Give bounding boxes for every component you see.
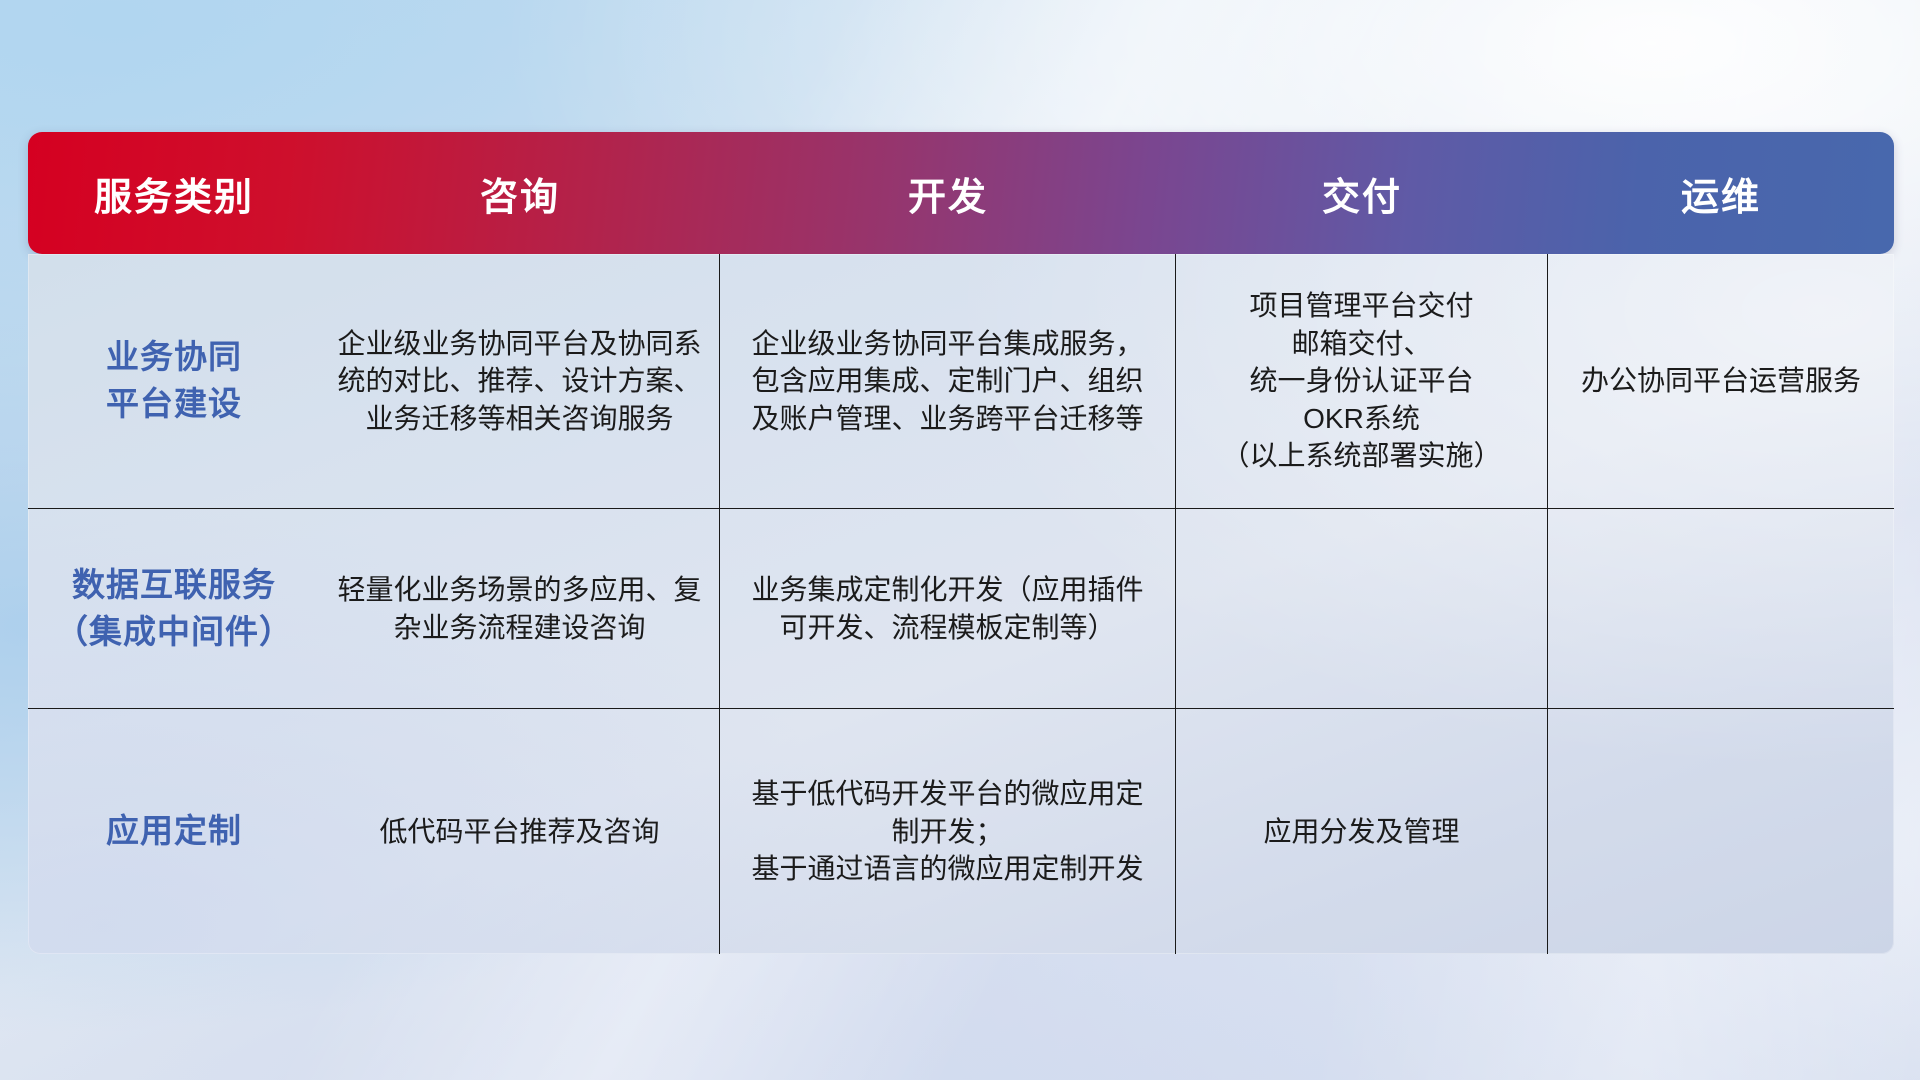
cell-delivery: 应用分发及管理 xyxy=(1176,709,1548,954)
cell-delivery: 项目管理平台交付 邮箱交付、 统一身份认证平台 OKR系统 （以上系统部署实施） xyxy=(1176,254,1548,509)
table-header-row: 服务类别 咨询 开发 交付 运维 xyxy=(28,132,1894,254)
service-category-matrix: 服务类别 咨询 开发 交付 运维 业务协同 平台建设 企业级业务协同平台及协同系… xyxy=(28,132,1894,954)
cell-delivery-empty xyxy=(1176,509,1548,709)
cell-operations-empty xyxy=(1548,709,1894,954)
cell-operations: 办公协同平台运营服务 xyxy=(1548,254,1894,509)
cell-consulting: 企业级业务协同平台及协同系 统的对比、推荐、设计方案、 业务迁移等相关咨询服务 xyxy=(320,254,720,509)
table-body: 业务协同 平台建设 企业级业务协同平台及协同系 统的对比、推荐、设计方案、 业务… xyxy=(28,254,1894,954)
table-row: 数据互联服务 （集成中间件） 轻量化业务场景的多应用、复 杂业务流程建设咨询 业… xyxy=(28,509,1894,709)
column-header-development: 开发 xyxy=(720,132,1176,254)
cell-development: 企业级业务协同平台集成服务， 包含应用集成、定制门户、组织 及账户管理、业务跨平… xyxy=(720,254,1176,509)
row-category-label: 业务协同 平台建设 xyxy=(28,254,320,509)
row-category-label: 数据互联服务 （集成中间件） xyxy=(28,509,320,709)
table-header: 服务类别 咨询 开发 交付 运维 xyxy=(28,132,1894,254)
row-category-label: 应用定制 xyxy=(28,709,320,954)
column-header-category: 服务类别 xyxy=(28,132,320,254)
cell-consulting: 低代码平台推荐及咨询 xyxy=(320,709,720,954)
table-row: 业务协同 平台建设 企业级业务协同平台及协同系 统的对比、推荐、设计方案、 业务… xyxy=(28,254,1894,509)
column-header-operations: 运维 xyxy=(1548,132,1894,254)
column-header-consulting: 咨询 xyxy=(320,132,720,254)
cell-operations-empty xyxy=(1548,509,1894,709)
cell-development: 基于低代码开发平台的微应用定 制开发； 基于通过语言的微应用定制开发 xyxy=(720,709,1176,954)
column-header-delivery: 交付 xyxy=(1176,132,1548,254)
service-matrix-container: 服务类别 咨询 开发 交付 运维 业务协同 平台建设 企业级业务协同平台及协同系… xyxy=(28,132,1894,954)
table-row: 应用定制 低代码平台推荐及咨询 基于低代码开发平台的微应用定 制开发； 基于通过… xyxy=(28,709,1894,954)
cell-development: 业务集成定制化开发（应用插件 可开发、流程模板定制等） xyxy=(720,509,1176,709)
cell-consulting: 轻量化业务场景的多应用、复 杂业务流程建设咨询 xyxy=(320,509,720,709)
